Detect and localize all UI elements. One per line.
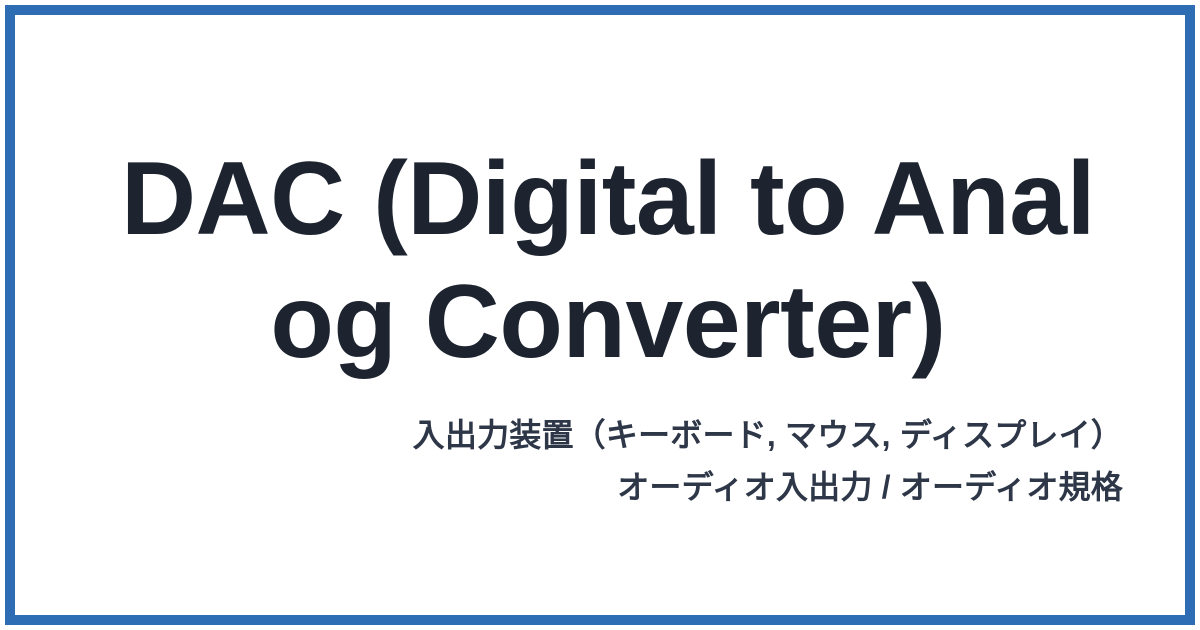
page-title: DAC (Digital to Analog Converter)	[93, 138, 1123, 383]
card-content: DAC (Digital to Analog Converter) 入出力装置（…	[15, 138, 1185, 513]
subtitle-line-2: オーディオ入出力 / オーディオ規格	[93, 462, 1123, 514]
card-border-frame: DAC (Digital to Analog Converter) 入出力装置（…	[5, 5, 1195, 625]
ogp-card: DAC (Digital to Analog Converter) 入出力装置（…	[0, 0, 1200, 630]
subtitle-line-1: 入出力装置（キーボード, マウス, ディスプレイ）	[93, 410, 1123, 462]
subtitle-block: 入出力装置（キーボード, マウス, ディスプレイ） オーディオ入出力 / オーデ…	[93, 410, 1123, 514]
